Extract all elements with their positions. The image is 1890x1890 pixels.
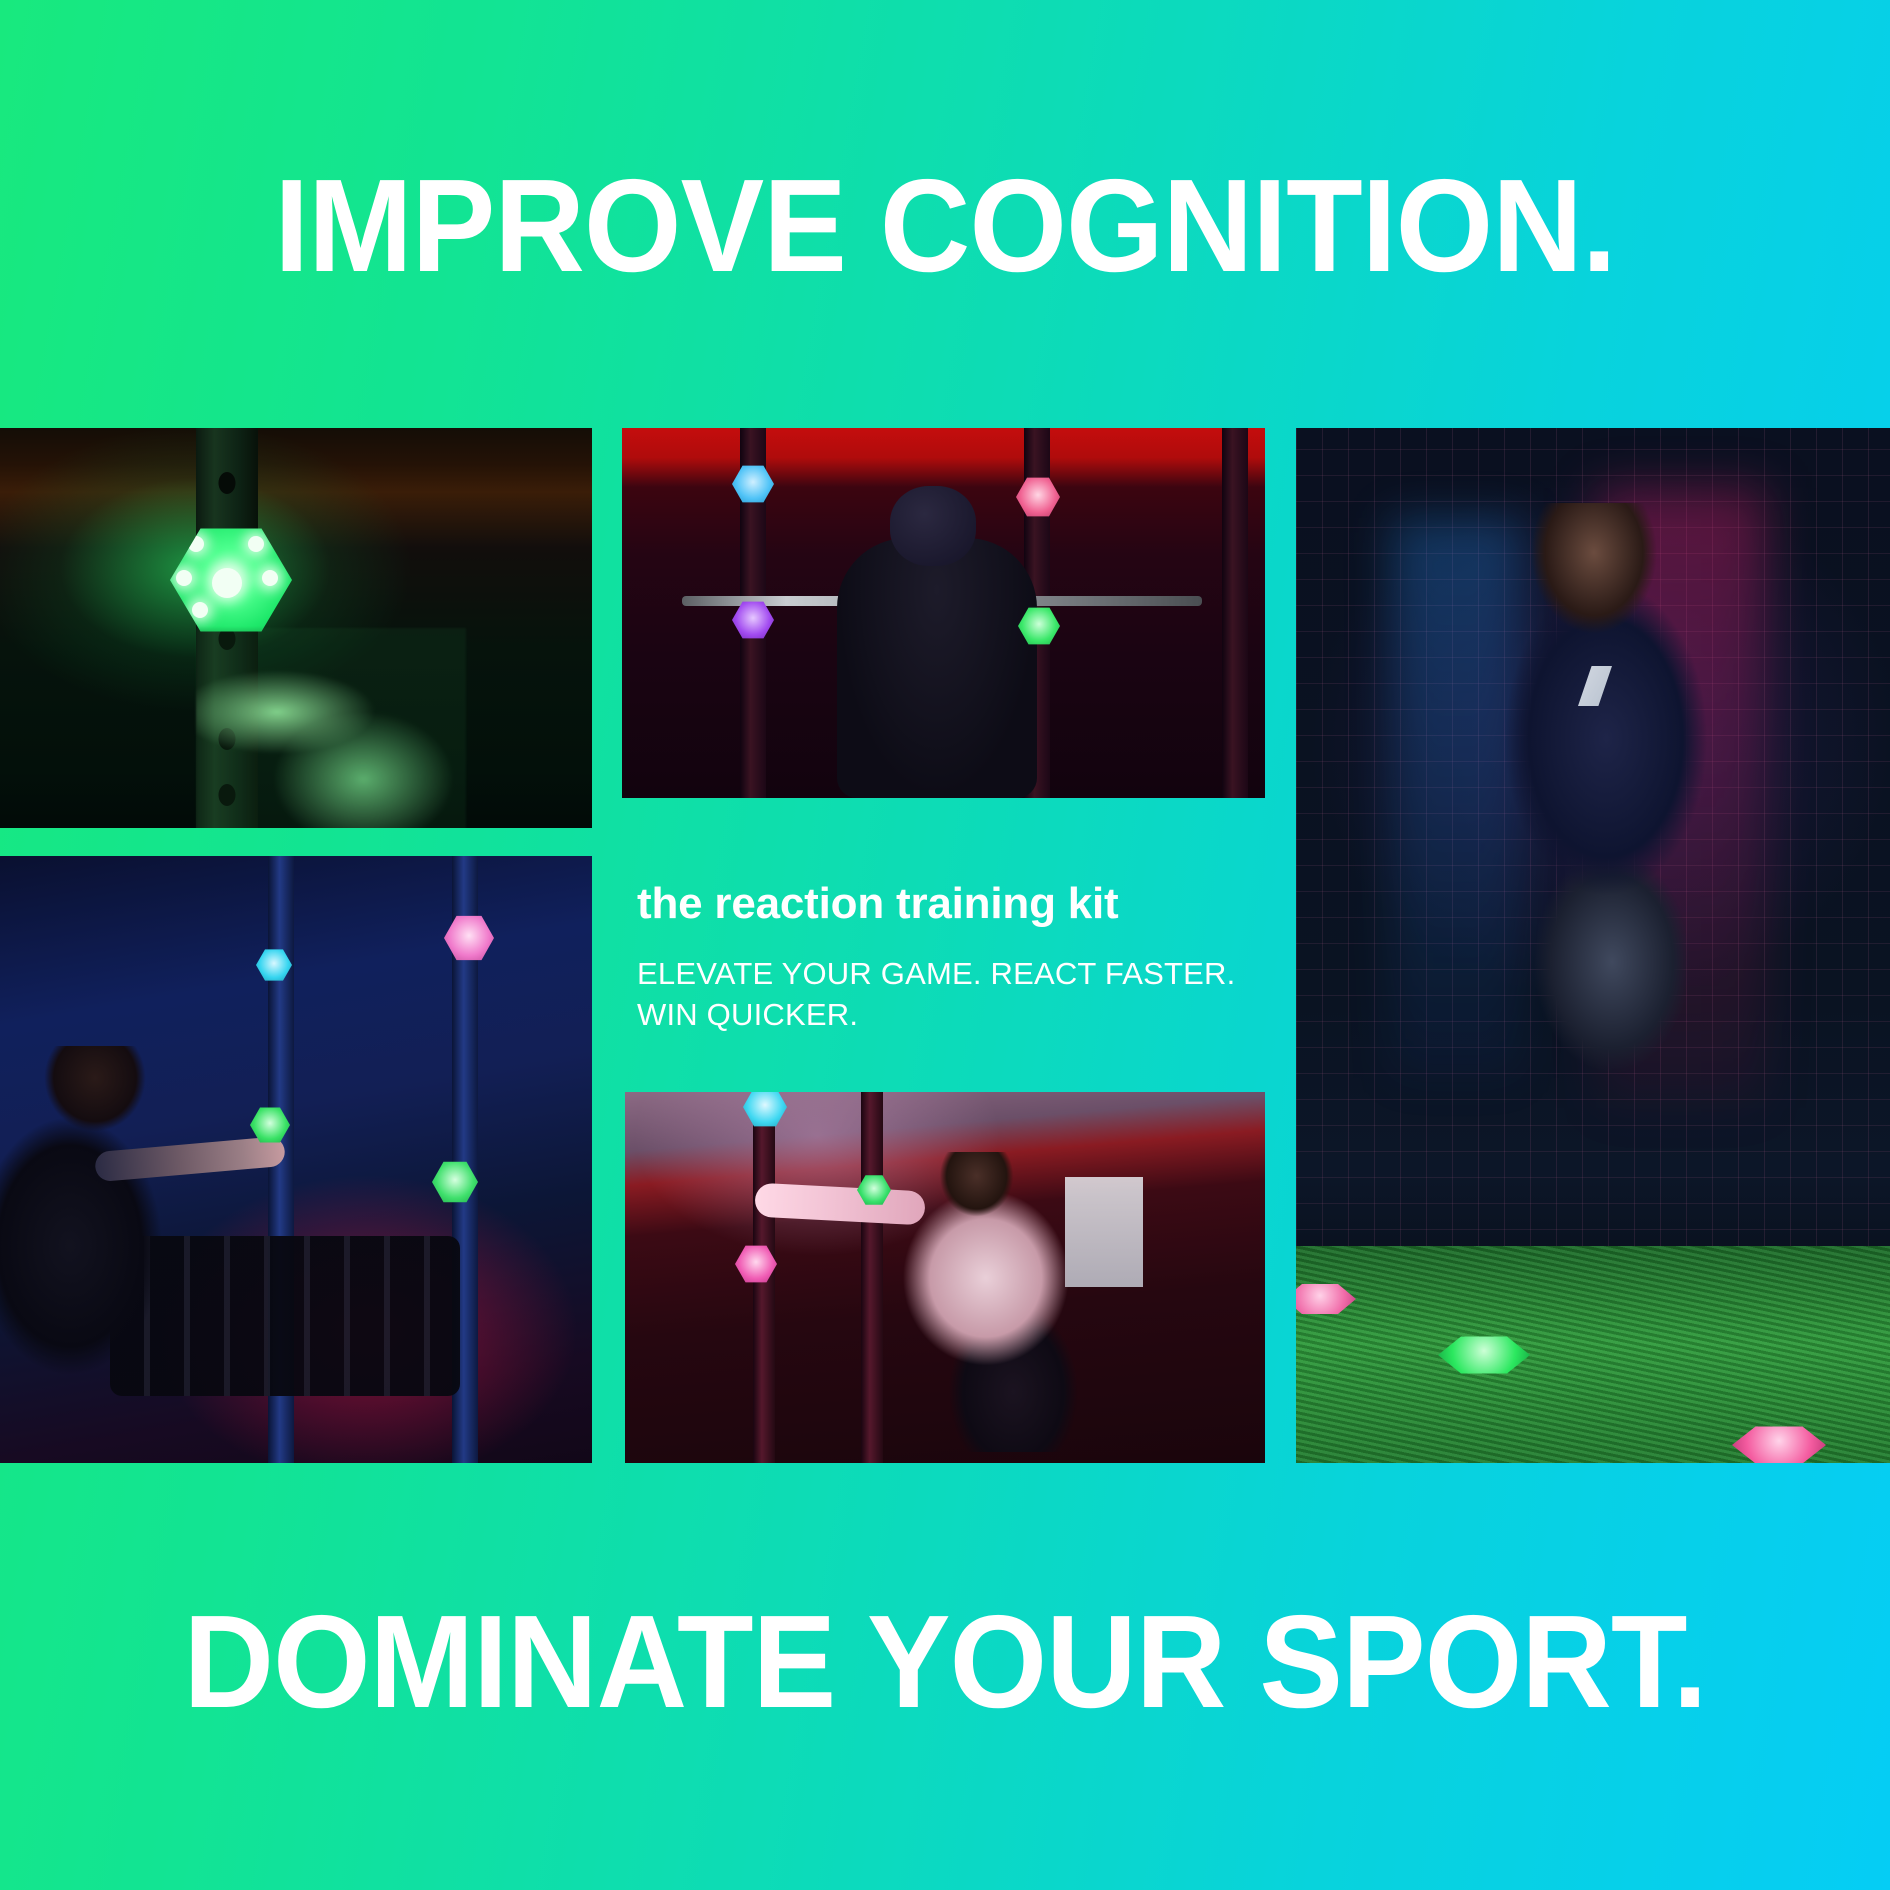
- photo-athlete-back-view-squat-rack-pods: [622, 428, 1265, 798]
- headline-bottom: DOMINATE YOUR SPORT.: [47, 1596, 1843, 1728]
- poster-canvas: IMPROVE COGNITION.: [0, 0, 1890, 1890]
- photo-sprinting-athlete-on-turf-with-floor-pods: [1296, 428, 1890, 1463]
- person-torso: [837, 538, 1037, 798]
- photo-hand-reaching-glowing-green-hex-pod: [0, 428, 592, 828]
- photo-man-pointing-at-pod-in-blue-lit-gym: [0, 856, 592, 1463]
- athlete-figure: [1456, 503, 1756, 1123]
- headline-top: IMPROVE COGNITION.: [47, 160, 1843, 292]
- product-title: the reaction training kit: [637, 882, 1119, 926]
- person-head: [890, 486, 976, 566]
- hand-silhouette: [196, 628, 466, 828]
- person-figure: [0, 1046, 250, 1446]
- product-tagline: ELEVATE YOUR GAME. REACT FASTER. WIN QUI…: [637, 954, 1237, 1036]
- photo-woman-reaching-for-pink-pod: [625, 1092, 1265, 1463]
- product-copy-block: the reaction training kit ELEVATE YOUR G…: [625, 856, 1265, 1088]
